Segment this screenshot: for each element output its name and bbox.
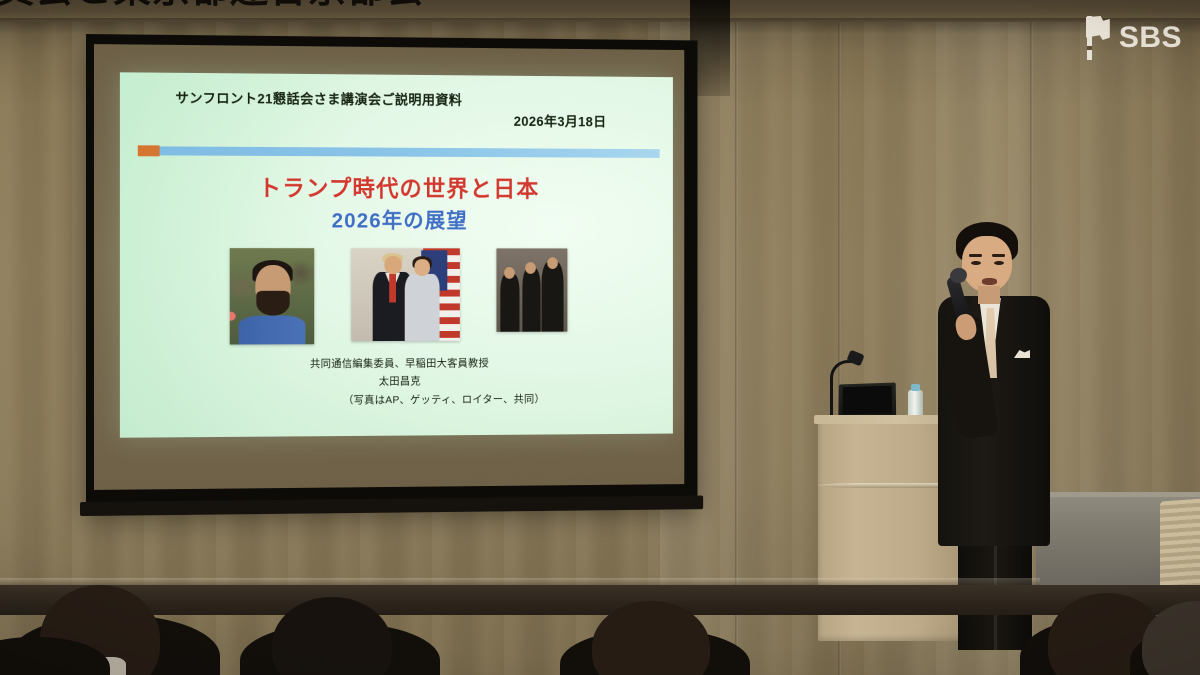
slide-credit-line1: 共同通信編集委員、早稲田大客員教授 [310, 357, 489, 370]
slide-title: トランプ時代の世界と日本 [120, 168, 673, 204]
slide-header: サンフロント21懇話会さま講演会ご説明用資料 2026年3月18日 [175, 89, 631, 134]
slide-photo-row [120, 248, 673, 345]
presentation-slide: サンフロント21懇話会さま講演会ご説明用資料 2026年3月18日 トランプ時代… [120, 72, 673, 437]
slide-credit-line3: （写真はAP、ゲッティ、ロイター、共同） [120, 389, 673, 410]
slide-header-line1: サンフロント21懇話会さま講演会ご説明用資料 [175, 91, 462, 108]
slide-accent-tab [138, 145, 160, 156]
screenshot-root: 員会と東京都連合京都会 SBS サンフロント21懇話会さま講演会ご説明用資料 2… [0, 0, 1200, 675]
sbs-flag-icon [1083, 16, 1110, 60]
slide-subtitle: 2026年の展望 [120, 204, 673, 235]
projection-screen-surface: サンフロント21懇話会さま講演会ご説明用資料 2026年3月18日 トランプ時代… [94, 44, 684, 490]
slide-photo-cleric [230, 248, 314, 344]
slide-header-date: 2026年3月18日 [175, 110, 631, 134]
projection-screen-frame: サンフロント21懇話会さま講演会ご説明用資料 2026年3月18日 トランプ時代… [86, 34, 697, 504]
slide-credit-block: 共同通信編集委員、早稲田大客員教授 太田昌克 （写真はAP、ゲッティ、ロイター、… [120, 354, 673, 411]
slide-photo-flag-pair [351, 248, 460, 341]
audience-foreground [0, 545, 1200, 675]
sbs-logo: SBS [1083, 16, 1182, 60]
slide-photo-group [496, 248, 567, 331]
sbs-logo-text: SBS [1119, 23, 1182, 53]
banner-drop-shadow [0, 18, 1200, 34]
slide-accent-band [156, 146, 660, 158]
overhead-banner-text: 員会と東京都連合京都会 [0, 0, 425, 10]
